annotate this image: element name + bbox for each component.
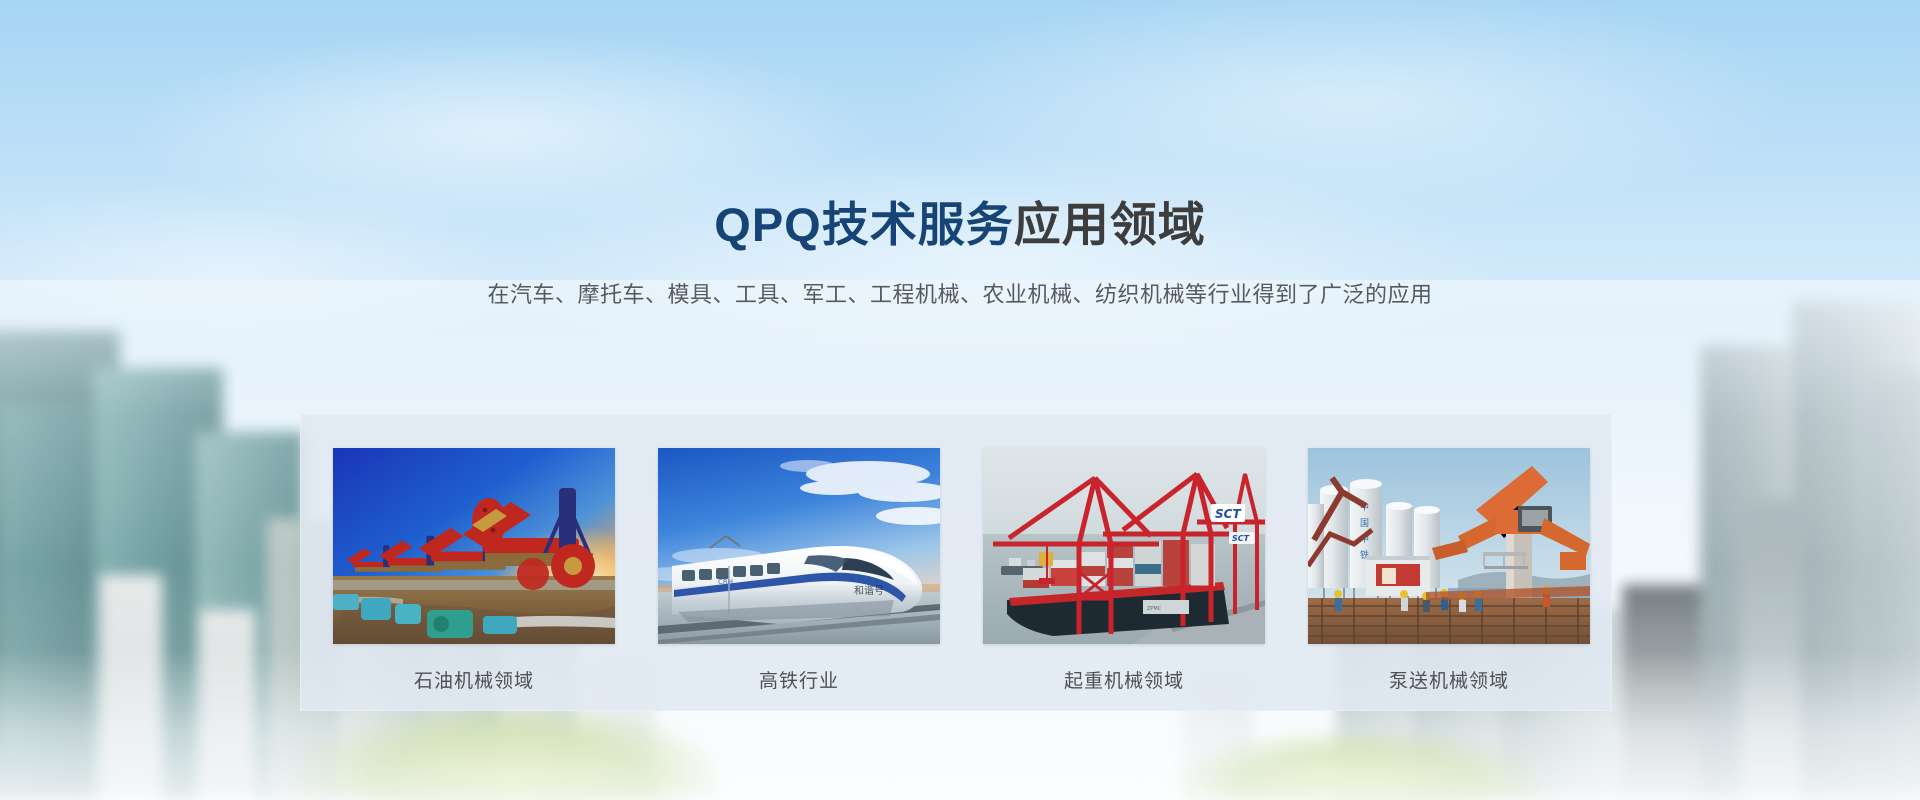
building-silhouette — [1862, 370, 1920, 800]
list-item-caption: 起重机械领域 — [983, 666, 1265, 693]
building-silhouette — [100, 575, 162, 800]
hero-heading-group: QPQ技术服务应用领域 在汽车、摩托车、模具、工具、军工、工程机械、农业机械、纺… — [0, 196, 1920, 309]
application-card-list: 石油机械领域 — [333, 448, 1590, 693]
page-title-secondary: 应用领域 — [1014, 198, 1206, 251]
crh-high-speed-train-photo[interactable]: 和谐号 CRH — [658, 448, 940, 644]
svg-text:国: 国 — [1360, 518, 1369, 529]
oil-pumpjack-field-sunset-photo[interactable] — [333, 448, 615, 644]
cloud-wisp — [900, 0, 1800, 220]
hero-banner: QPQ技术服务应用领域 在汽车、摩托车、模具、工具、军工、工程机械、农业机械、纺… — [0, 0, 1920, 800]
list-item-caption: 石油机械领域 — [333, 666, 615, 693]
list-item-caption: 泵送机械领域 — [1308, 666, 1590, 693]
page-title-primary: QPQ技术服务 — [714, 198, 1013, 251]
svg-text:ZPMC: ZPMC — [1147, 606, 1162, 612]
svg-text:和谐号: 和谐号 — [854, 585, 884, 597]
svg-text:CRH: CRH — [718, 578, 733, 586]
list-item[interactable]: 石油机械领域 — [333, 448, 615, 693]
page-title: QPQ技术服务应用领域 — [0, 196, 1920, 255]
building-silhouette — [1622, 585, 1700, 800]
list-item[interactable]: 和谐号 CRH 高铁行业 — [658, 448, 940, 693]
svg-text:SCT: SCT — [1232, 534, 1250, 543]
concrete-pump-silo-site-photo[interactable]: 中 国 中 铁 — [1308, 448, 1590, 644]
building-silhouette — [1742, 500, 1800, 800]
treeline-foliage — [300, 705, 720, 800]
list-item-caption: 高铁行业 — [658, 666, 940, 693]
page-subtitle: 在汽车、摩托车、模具、工具、军工、工程机械、农业机械、纺织机械等行业得到了广泛的… — [0, 277, 1920, 309]
list-item[interactable]: 中 国 中 铁 — [1308, 448, 1590, 693]
svg-text:SCT: SCT — [1215, 507, 1241, 521]
treeline-foliage — [1180, 730, 1540, 800]
list-item[interactable]: SCT SCT ZPMC 起重机械领域 — [983, 448, 1265, 693]
port-container-gantry-crane-photo[interactable]: SCT SCT ZPMC — [983, 448, 1265, 644]
application-fields-panel: 石油机械领域 — [300, 414, 1612, 711]
building-silhouette — [200, 610, 256, 800]
